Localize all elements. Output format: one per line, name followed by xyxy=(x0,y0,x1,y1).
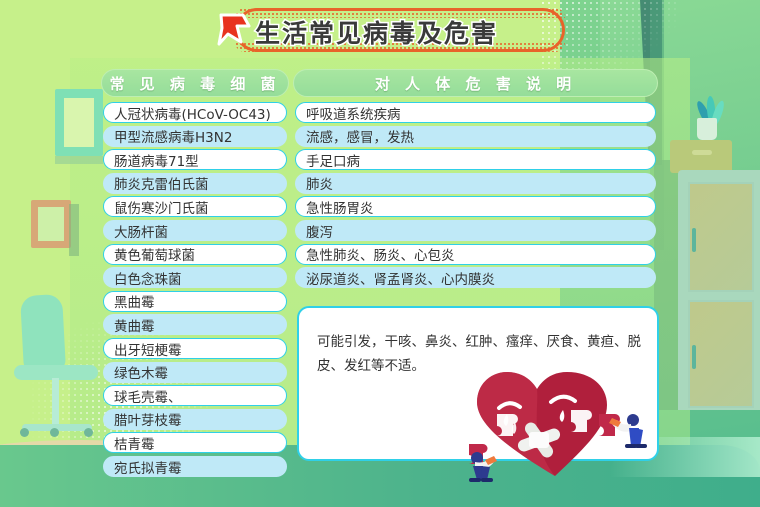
office-chair-wheel xyxy=(50,428,59,437)
office-chair-back xyxy=(20,294,66,372)
pathogen-cell: 桔青霉 xyxy=(103,432,287,453)
pathogen-cell: 黄色葡萄球菌 xyxy=(103,244,287,265)
harm-cell: 呼吸道系统疾病 xyxy=(295,102,656,123)
storage-box-handle xyxy=(692,150,712,155)
pathogen-cell: 肺炎克雷伯氏菌 xyxy=(103,173,287,194)
harm-cell: 流感，感冒，发热 xyxy=(295,126,656,147)
harm-cell: 急性肺炎、肠炎、心包炎 xyxy=(295,244,656,265)
plant-pot xyxy=(697,118,717,140)
pathogen-cell: 鼠伤寒沙门氏菌 xyxy=(103,196,287,217)
pathogen-cell: 宛氏拟青霉 xyxy=(103,456,287,477)
cabinet-door-upper xyxy=(688,182,754,292)
pathogen-cell: 大肠杆菌 xyxy=(103,220,287,241)
harm-cell: 手足口病 xyxy=(295,149,656,170)
column-header-pathogen: 常 见 病 毒 细 菌 xyxy=(101,69,289,97)
page-title: 生活常见病毒及危害 xyxy=(255,14,555,50)
harm-cell: 泌尿道炎、肾孟肾炎、心内膜炎 xyxy=(295,267,656,288)
pathogen-cell: 人冠状病毒(HCoV-OC43) xyxy=(103,102,287,123)
pathogen-cell: 出牙短梗霉 xyxy=(103,338,287,359)
pathogen-cell: 绿色木霉 xyxy=(103,362,287,383)
office-chair-wheel xyxy=(84,428,93,437)
harm-cell: 急性肠胃炎 xyxy=(295,196,656,217)
office-chair-post xyxy=(52,378,59,430)
storage-box xyxy=(670,140,732,173)
cabinet-handle xyxy=(692,345,696,369)
pathogen-cell: 黄曲霉 xyxy=(103,314,287,335)
column-header-harm: 对 人 体 危 害 说 明 xyxy=(293,69,658,97)
cabinet-handle xyxy=(692,228,696,252)
wall-frame-small xyxy=(31,200,71,248)
office-chair-wheel xyxy=(20,428,29,437)
pathogen-cell: 球毛壳霉、 xyxy=(103,385,287,406)
title-banner: 生活常见病毒及危害 xyxy=(215,8,565,52)
pathogen-cell: 甲型流感病毒H3N2 xyxy=(103,126,287,147)
crying-heart-puzzle-illustration xyxy=(455,358,660,483)
pathogen-cell: 黑曲霉 xyxy=(103,291,287,312)
cabinet-door-lower xyxy=(688,300,754,408)
pathogen-cell: 白色念珠菌 xyxy=(103,267,287,288)
poster-canvas: 生活常见病毒及危害 常 见 病 毒 细 菌 对 人 体 危 害 说 明 人冠状病… xyxy=(0,0,760,507)
harm-cell: 腹泻 xyxy=(295,220,656,241)
wall-frame-large xyxy=(55,89,103,156)
pathogen-cell: 腊叶芽枝霉 xyxy=(103,409,287,430)
harm-cell: 肺炎 xyxy=(295,173,656,194)
pathogen-cell: 肠道病毒71型 xyxy=(103,149,287,170)
